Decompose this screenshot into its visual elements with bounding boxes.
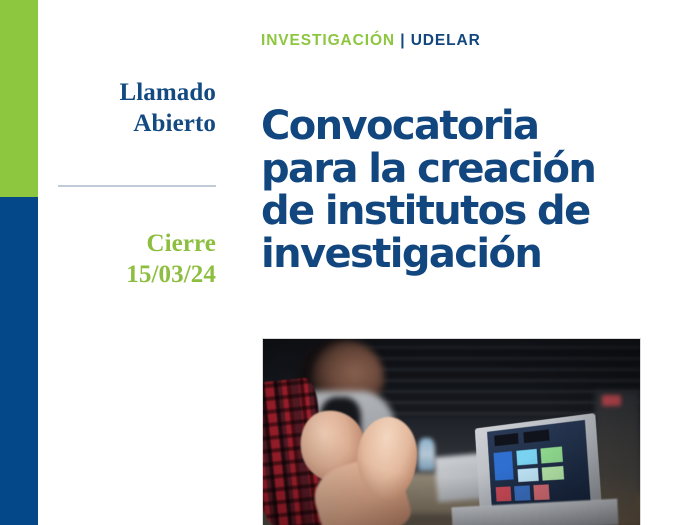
headline-line-2: para la creación (261, 148, 661, 191)
eyebrow-sub-label: UDELAR (411, 32, 481, 49)
meta-column: Llamado Abierto Cierre 15/03/24 (44, 78, 216, 290)
blue-accent-bar (0, 197, 38, 525)
page-title: Convocatoria para la creación de institu… (261, 105, 661, 276)
eyebrow-main-label: INVESTIGACIÓN (261, 32, 395, 49)
green-accent-bar (0, 0, 38, 197)
call-status-line-2: Abierto (44, 109, 216, 140)
sidebar-color-bars (0, 0, 38, 525)
call-status: Llamado Abierto (44, 78, 216, 139)
meta-divider (58, 185, 216, 187)
poster-canvas: Llamado Abierto Cierre 15/03/24 INVESTIG… (0, 0, 700, 525)
content-column: INVESTIGACIÓN | UDELAR Convocatoria para… (261, 0, 700, 525)
photo-scene (263, 339, 640, 525)
headline-line-4: investigación (261, 233, 661, 276)
deadline-block: Cierre 15/03/24 (44, 229, 216, 290)
eyebrow-kicker: INVESTIGACIÓN | UDELAR (261, 32, 481, 50)
hero-photo (262, 338, 641, 525)
photo-vignette (263, 339, 640, 525)
eyebrow-separator: | (400, 32, 405, 49)
call-status-line-1: Llamado (44, 78, 216, 109)
deadline-date: 15/03/24 (44, 260, 216, 291)
deadline-label: Cierre (44, 229, 216, 260)
headline-line-3: de institutos de (261, 190, 661, 233)
headline-line-1: Convocatoria (261, 105, 661, 148)
